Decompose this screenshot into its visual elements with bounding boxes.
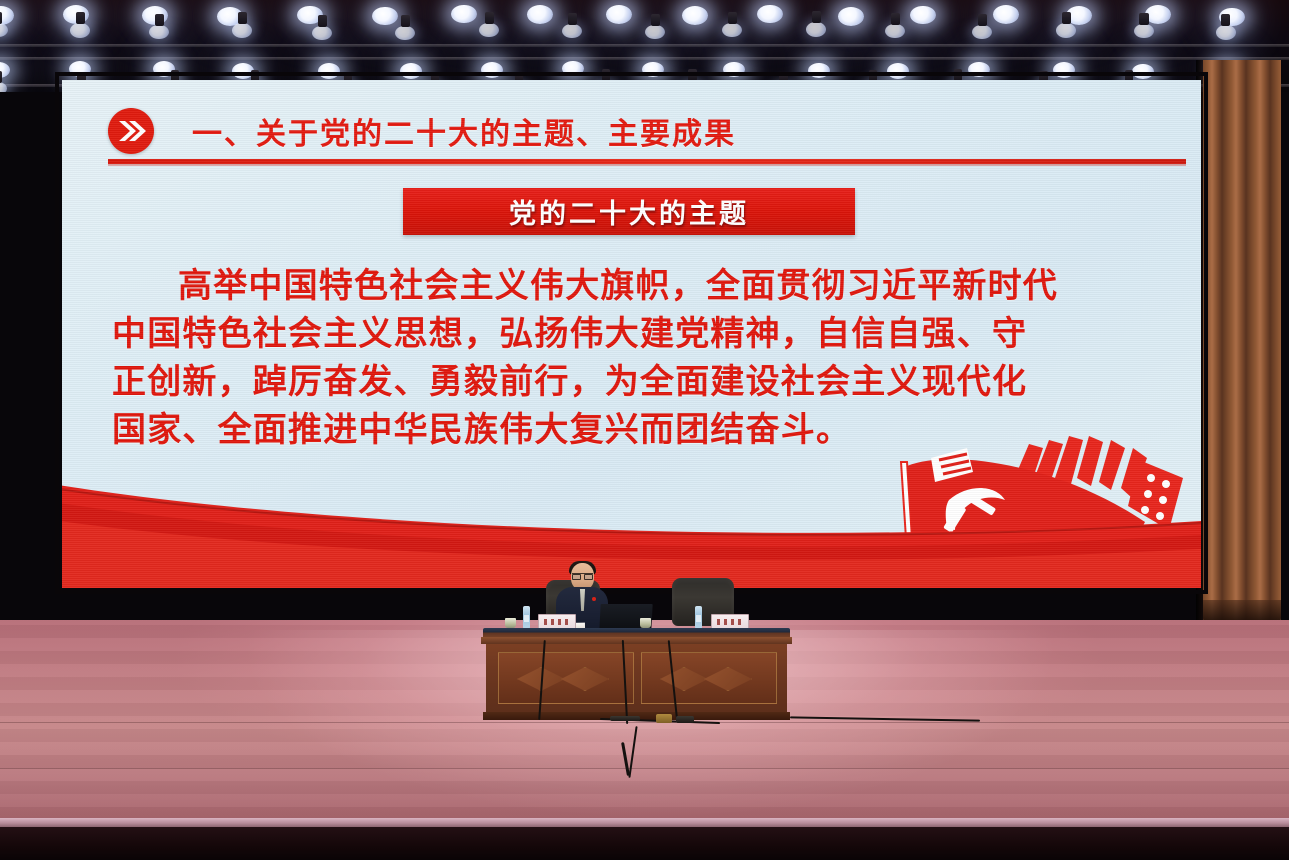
section-banner: 党的二十大的主题 [403,188,855,235]
stage-lamp [479,23,499,37]
stage-lamp [451,5,477,24]
stage-curtain [1203,60,1281,620]
lamp-housing [485,12,494,24]
lamp-housing [401,15,410,27]
lapel-pin [592,597,596,601]
stage-lamp [0,6,14,25]
stage-lamp [232,23,252,37]
floor-seam [0,722,1289,723]
truss-beam [0,57,1289,60]
lamp-housing [651,14,660,26]
stage-lamp [757,5,783,24]
lamp-housing [0,71,2,83]
stage-lamp [1134,24,1154,38]
stage-lamp [312,26,332,40]
panel-diamond [660,667,708,691]
stage-lamp [395,26,415,40]
stage-lamp [910,6,936,25]
stage-edge [0,818,1289,827]
lamp-housing [1062,12,1071,24]
stage-lamp [372,7,398,26]
lamp-housing [891,13,900,25]
lamp-housing [318,15,327,27]
stage-lamp [972,25,992,39]
water-bottle [695,606,702,630]
water-bottle [523,606,530,630]
stage-lamp [606,5,632,24]
body-line: 正创新，踔厉奋发、勇毅前行，为全面建设社会主义现代化 [112,358,1158,406]
stage-lamp [1145,5,1171,24]
lamp-housing [812,11,821,23]
slide-ribbon-decoration [62,462,1201,588]
floor-equipment [610,716,640,721]
podium-table [483,628,790,720]
body-line: 中国特色社会主义思想，弘扬伟大建党精神，自信自强、守 [112,310,1158,358]
lamp-housing [728,12,737,24]
double-chevron-icon [108,108,154,154]
podium-front-panel [486,644,787,712]
stage-lamp [1056,23,1076,37]
panel-diamond [561,667,609,691]
section-banner-label: 党的二十大的主题 [509,192,749,231]
podium-panel [498,652,634,704]
slide-title: 一、关于党的二十大的主题、主要成果 [192,109,736,153]
conference-hall-scene: 一、关于党的二十大的主题、主要成果 党的二十大的主题 高举中国特色社会主义伟大旗… [0,0,1289,860]
lamp-housing [978,14,987,26]
panel-diamond [704,667,752,691]
floor-equipment [656,714,672,723]
stage-lamp [70,23,90,37]
stage-lamp [562,24,582,38]
tea-cup [505,618,516,628]
stage-lamp [645,25,665,39]
stage-lamp [993,5,1019,24]
stage-lamp [722,23,742,37]
tea-cup [640,618,651,628]
lamp-housing [1221,14,1230,26]
truss-beam [0,44,1289,47]
stage-lamp [806,22,826,36]
glasses-icon [572,573,593,579]
lamp-housing [76,12,85,24]
stage-lamp [885,24,905,38]
lamp-housing [568,13,577,25]
floor-seam [0,768,1289,769]
stage-apron [0,827,1289,860]
podium-panel [641,652,777,704]
body-line: 高举中国特色社会主义伟大旗帜，全面贯彻习近平新时代 [112,262,1158,310]
floor-equipment [676,716,694,723]
title-underline-secondary [108,164,1186,166]
lamp-housing [238,12,247,24]
lamp-housing [155,14,164,26]
podium-edge [481,637,792,644]
slide-title-row: 一、关于党的二十大的主题、主要成果 [108,102,1201,160]
stage-lamp [1216,25,1236,39]
stage-lamp [0,23,8,37]
stage-lamp [527,5,553,24]
lamp-housing [1139,13,1148,25]
stage-lamp [838,7,864,26]
stage-lamp [149,25,169,39]
presentation-slide: 一、关于党的二十大的主题、主要成果 党的二十大的主题 高举中国特色社会主义伟大旗… [62,80,1201,588]
stage-lamp [682,6,708,25]
